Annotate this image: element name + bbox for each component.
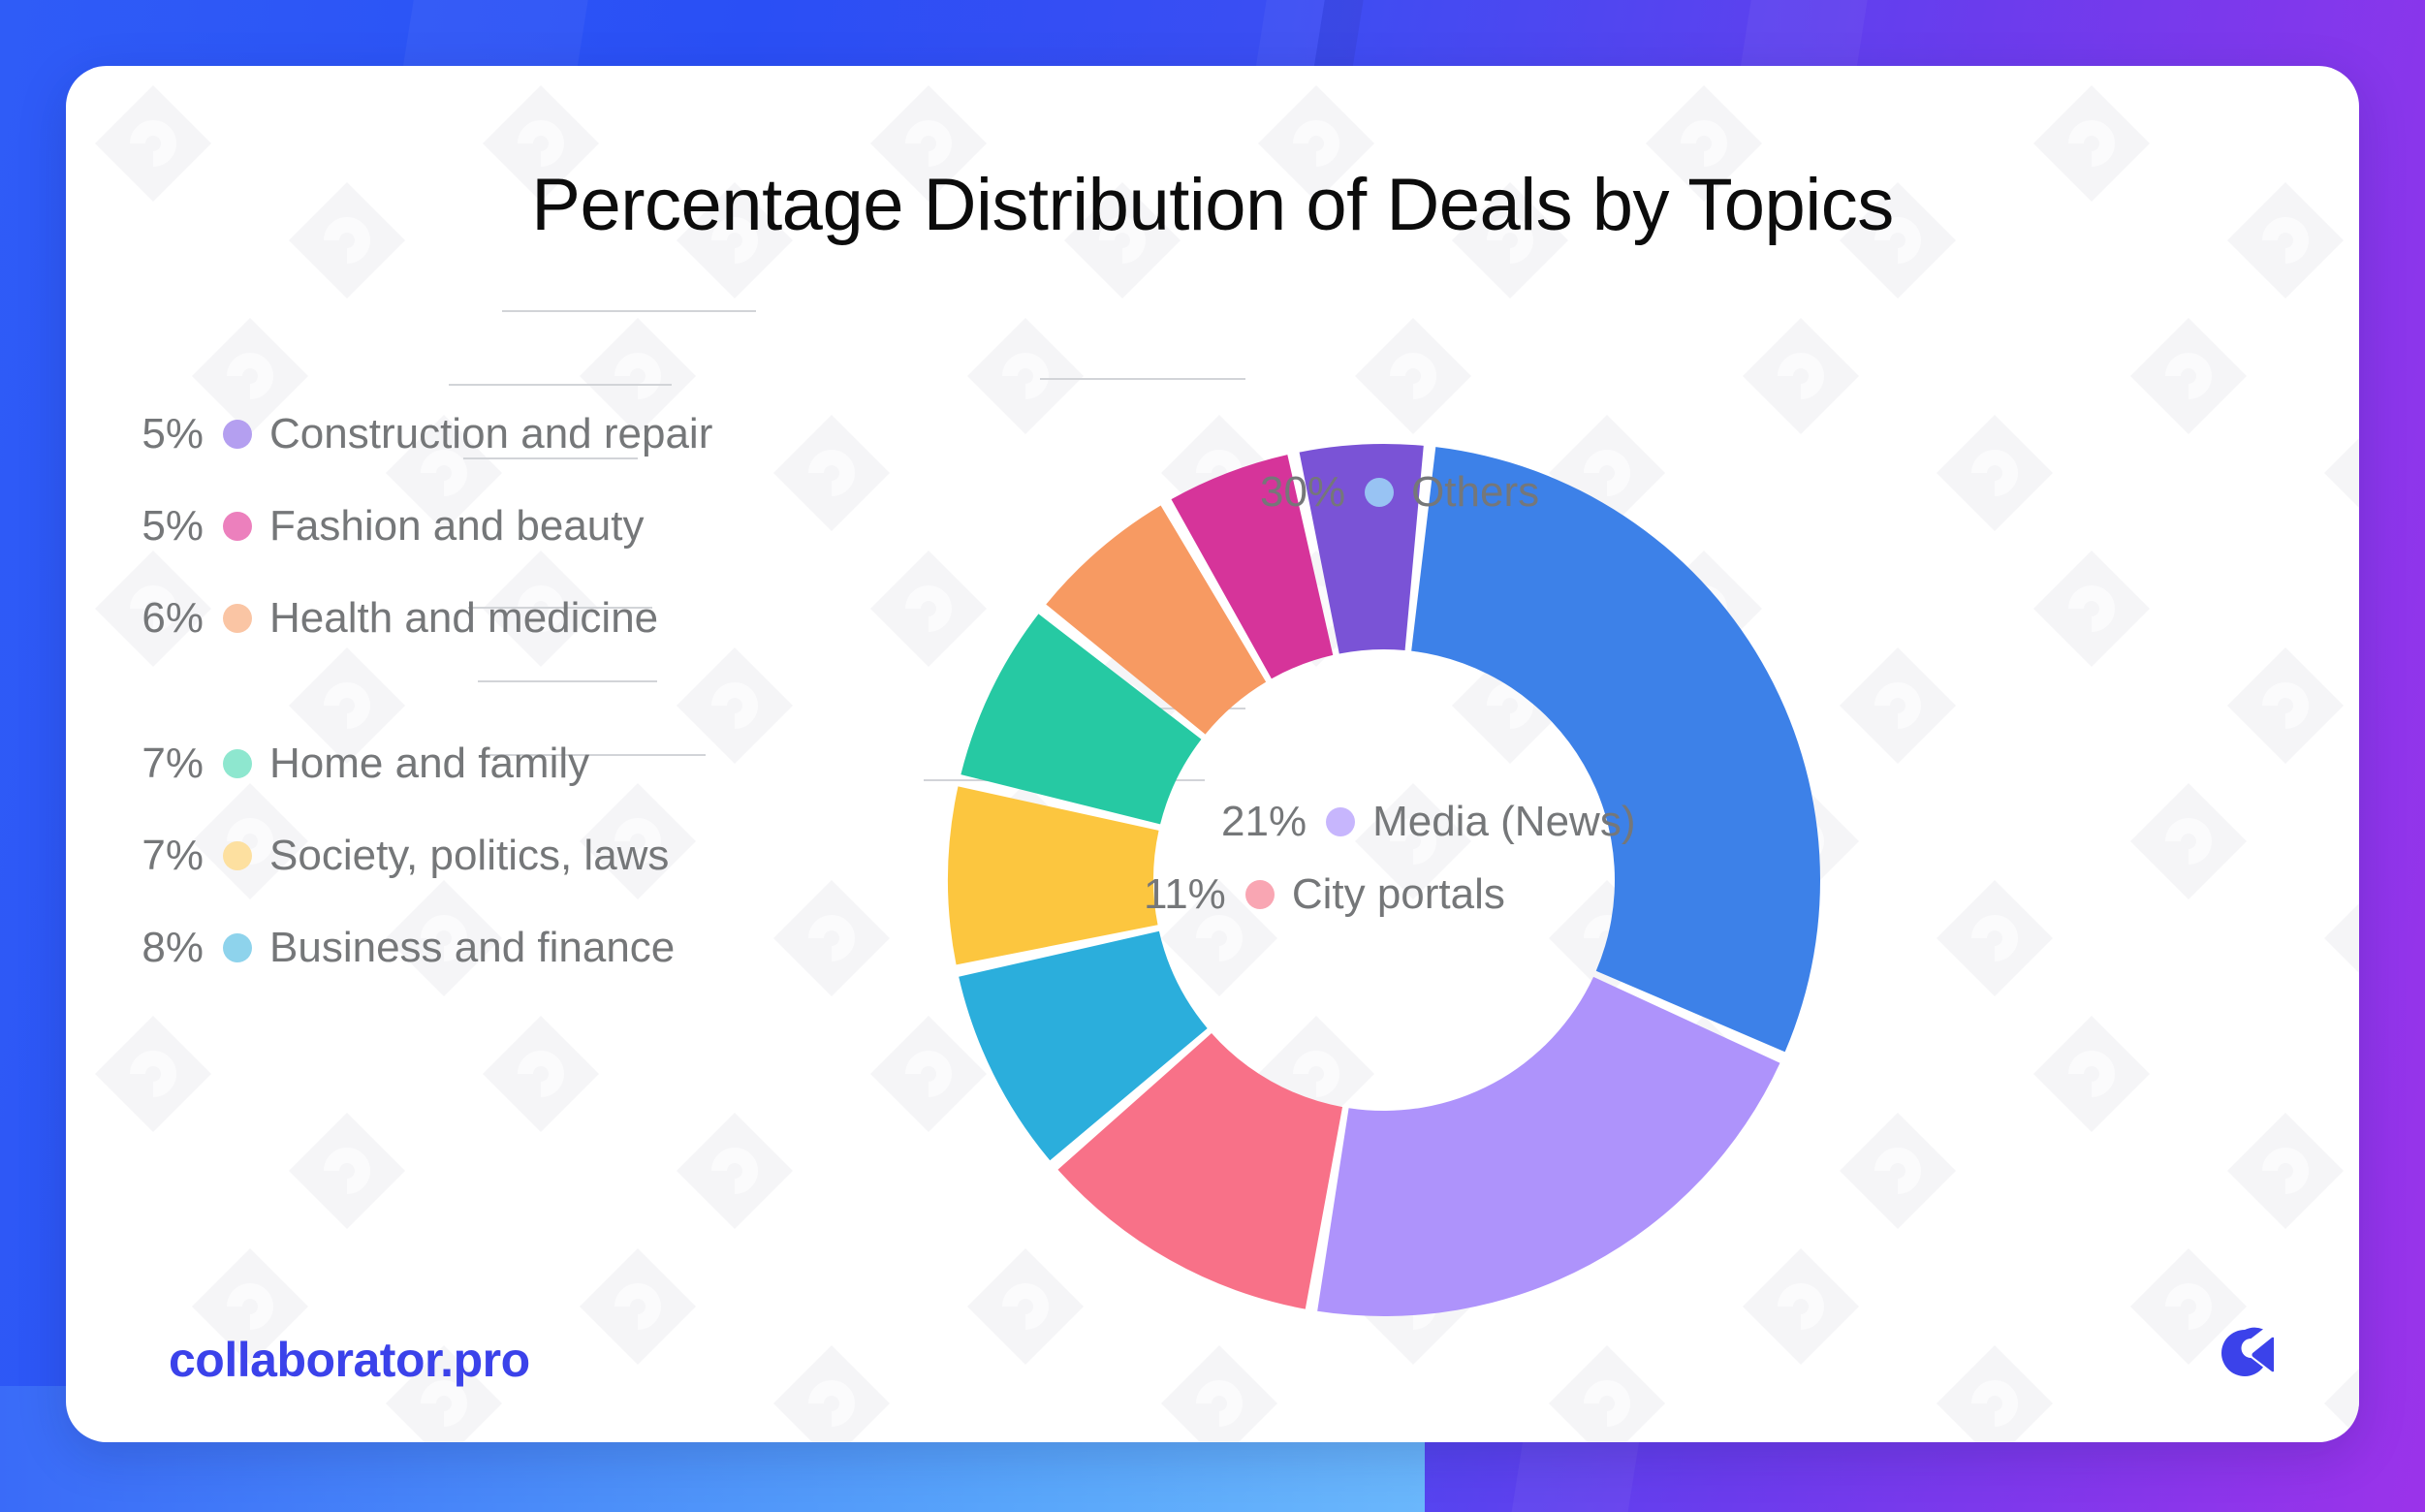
legend-percent: 5% bbox=[110, 410, 204, 458]
legend-item-left-4[interactable]: 7%Society, politics, laws bbox=[110, 832, 669, 880]
legend-item-left-3[interactable]: 7%Home and family bbox=[110, 740, 589, 788]
legend-percent: 30% bbox=[1260, 468, 1345, 517]
legend-color-dot-icon bbox=[223, 841, 252, 870]
legend-label: Business and finance bbox=[269, 924, 675, 972]
legend-item-right-0[interactable]: 30%Others bbox=[1260, 468, 1539, 517]
legend-label: Society, politics, laws bbox=[269, 832, 669, 880]
brand-name[interactable]: collaborator.pro bbox=[169, 1332, 530, 1388]
leader-line bbox=[449, 384, 672, 386]
legend-percent: 21% bbox=[1221, 798, 1307, 846]
legend-label: Construction and repair bbox=[269, 410, 712, 458]
legend-color-dot-icon bbox=[223, 512, 252, 541]
donut-slice[interactable]: Others 30% bbox=[1411, 447, 1820, 1052]
legend-color-dot-icon bbox=[223, 749, 252, 778]
legend-label: City portals bbox=[1292, 870, 1505, 919]
legend-label: Others bbox=[1411, 468, 1539, 517]
legend-color-dot-icon bbox=[1326, 807, 1355, 836]
legend-percent: 5% bbox=[110, 502, 204, 551]
legend-item-right-2[interactable]: 11%City portals bbox=[1144, 870, 1505, 919]
donut-slice[interactable]: Media (News) 21% bbox=[1317, 977, 1779, 1316]
legend-color-dot-icon bbox=[1245, 880, 1275, 909]
legend-percent: 8% bbox=[110, 924, 204, 972]
legend-percent: 11% bbox=[1144, 870, 1226, 919]
legend-item-left-1[interactable]: 5%Fashion and beauty bbox=[110, 502, 645, 551]
legend-item-right-1[interactable]: 21%Media (News) bbox=[1221, 798, 1635, 846]
chart-card: Percentage Distribution of Deals by Topi… bbox=[66, 66, 2359, 1442]
legend-item-left-0[interactable]: 5%Construction and repair bbox=[110, 410, 712, 458]
legend-label: Media (News) bbox=[1372, 798, 1635, 846]
infographic-canvas: Percentage Distribution of Deals by Topi… bbox=[0, 0, 2425, 1512]
leader-line bbox=[1040, 378, 1245, 380]
legend-percent: 6% bbox=[110, 594, 204, 643]
legend-color-dot-icon bbox=[223, 420, 252, 449]
page-title: Percentage Distribution of Deals by Topi… bbox=[66, 163, 2359, 247]
legend-label: Fashion and beauty bbox=[269, 502, 645, 551]
leader-line bbox=[502, 310, 756, 312]
leader-line bbox=[478, 680, 657, 682]
legend-color-dot-icon bbox=[1365, 478, 1394, 507]
legend-color-dot-icon bbox=[223, 604, 252, 633]
legend-label: Home and family bbox=[269, 740, 589, 788]
legend-color-dot-icon bbox=[223, 933, 252, 962]
legend-item-left-5[interactable]: 8%Business and finance bbox=[110, 924, 675, 972]
legend-percent: 7% bbox=[110, 832, 204, 880]
legend-percent: 7% bbox=[110, 740, 204, 788]
legend-item-left-2[interactable]: 6%Health and medicine bbox=[110, 594, 658, 643]
legend-label: Health and medicine bbox=[269, 594, 658, 643]
collaborator-logo-icon bbox=[2216, 1326, 2274, 1380]
